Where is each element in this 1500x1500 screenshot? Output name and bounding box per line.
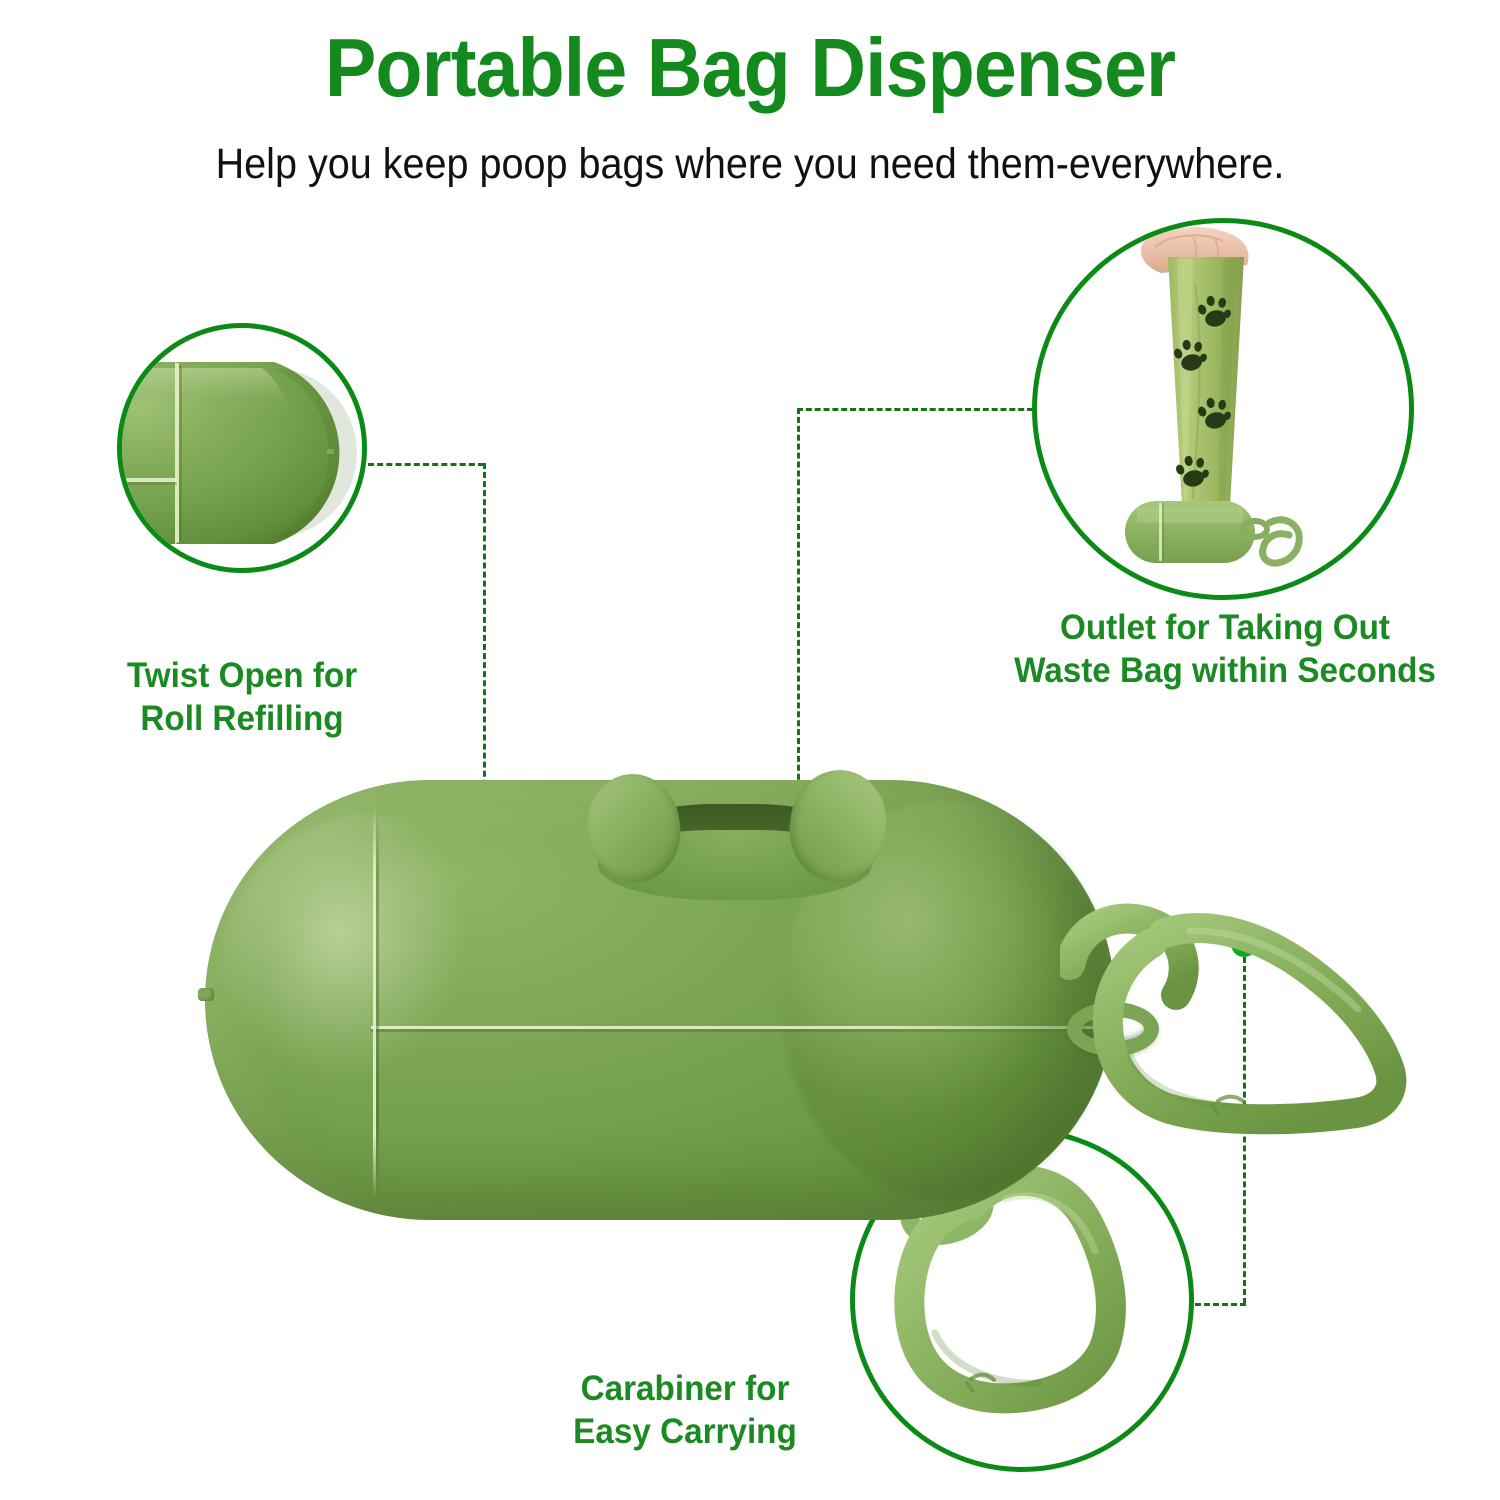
body-seam-vertical-shadow [376, 806, 379, 1198]
callout-label-outlet-line2: Waste Bag within Seconds [954, 650, 1496, 693]
callout-label-outlet-line1: Outlet for Taking Out [954, 607, 1496, 650]
body-highlight-left [213, 814, 513, 1186]
callout-label-twist-open: Twist Open for Roll Refilling [71, 655, 413, 740]
callout-label-carabiner: Carabiner for Easy Carrying [528, 1368, 842, 1453]
callout-ring-outlet [1032, 218, 1414, 600]
product-carabiner-clip [1060, 895, 1420, 1195]
callout-ring-twist-open [117, 323, 367, 573]
connector-line-carabiner-horizontal [1186, 1303, 1246, 1306]
carabiner-illustration [1060, 895, 1420, 1195]
page-subtitle: Help you keep poop bags where you need t… [60, 143, 1440, 186]
hand-pulling-waste-bag-illustration [1037, 223, 1409, 595]
infographic-canvas: Portable Bag Dispenser Help you keep poo… [0, 0, 1500, 1500]
mini-dispenser-body [1125, 501, 1299, 563]
callout-label-carabiner-line2: Easy Carrying [528, 1411, 842, 1454]
body-seam-horizontal-shadow [371, 1029, 1095, 1032]
callout-label-outlet: Outlet for Taking Out Waste Bag within S… [954, 607, 1496, 692]
product-image-dispenser [205, 780, 1115, 1220]
connector-line-twist-horizontal [368, 463, 484, 466]
callout-label-twist-open-line2: Roll Refilling [71, 698, 413, 741]
callout-image-hand-pulling-bag [1037, 223, 1409, 595]
body-end-nub [198, 988, 214, 1001]
bag-outlet-slot [590, 768, 880, 888]
page-title: Portable Bag Dispenser [53, 26, 1448, 109]
callout-label-carabiner-line1: Carabiner for [528, 1368, 842, 1411]
dispenser-cap-closeup-illustration [122, 328, 362, 568]
callout-image-dispenser-cap [122, 328, 362, 568]
connector-line-outlet-horizontal [797, 408, 1033, 411]
mini-carabiner-icon [1263, 520, 1300, 563]
callout-label-twist-open-line1: Twist Open for [71, 655, 413, 698]
